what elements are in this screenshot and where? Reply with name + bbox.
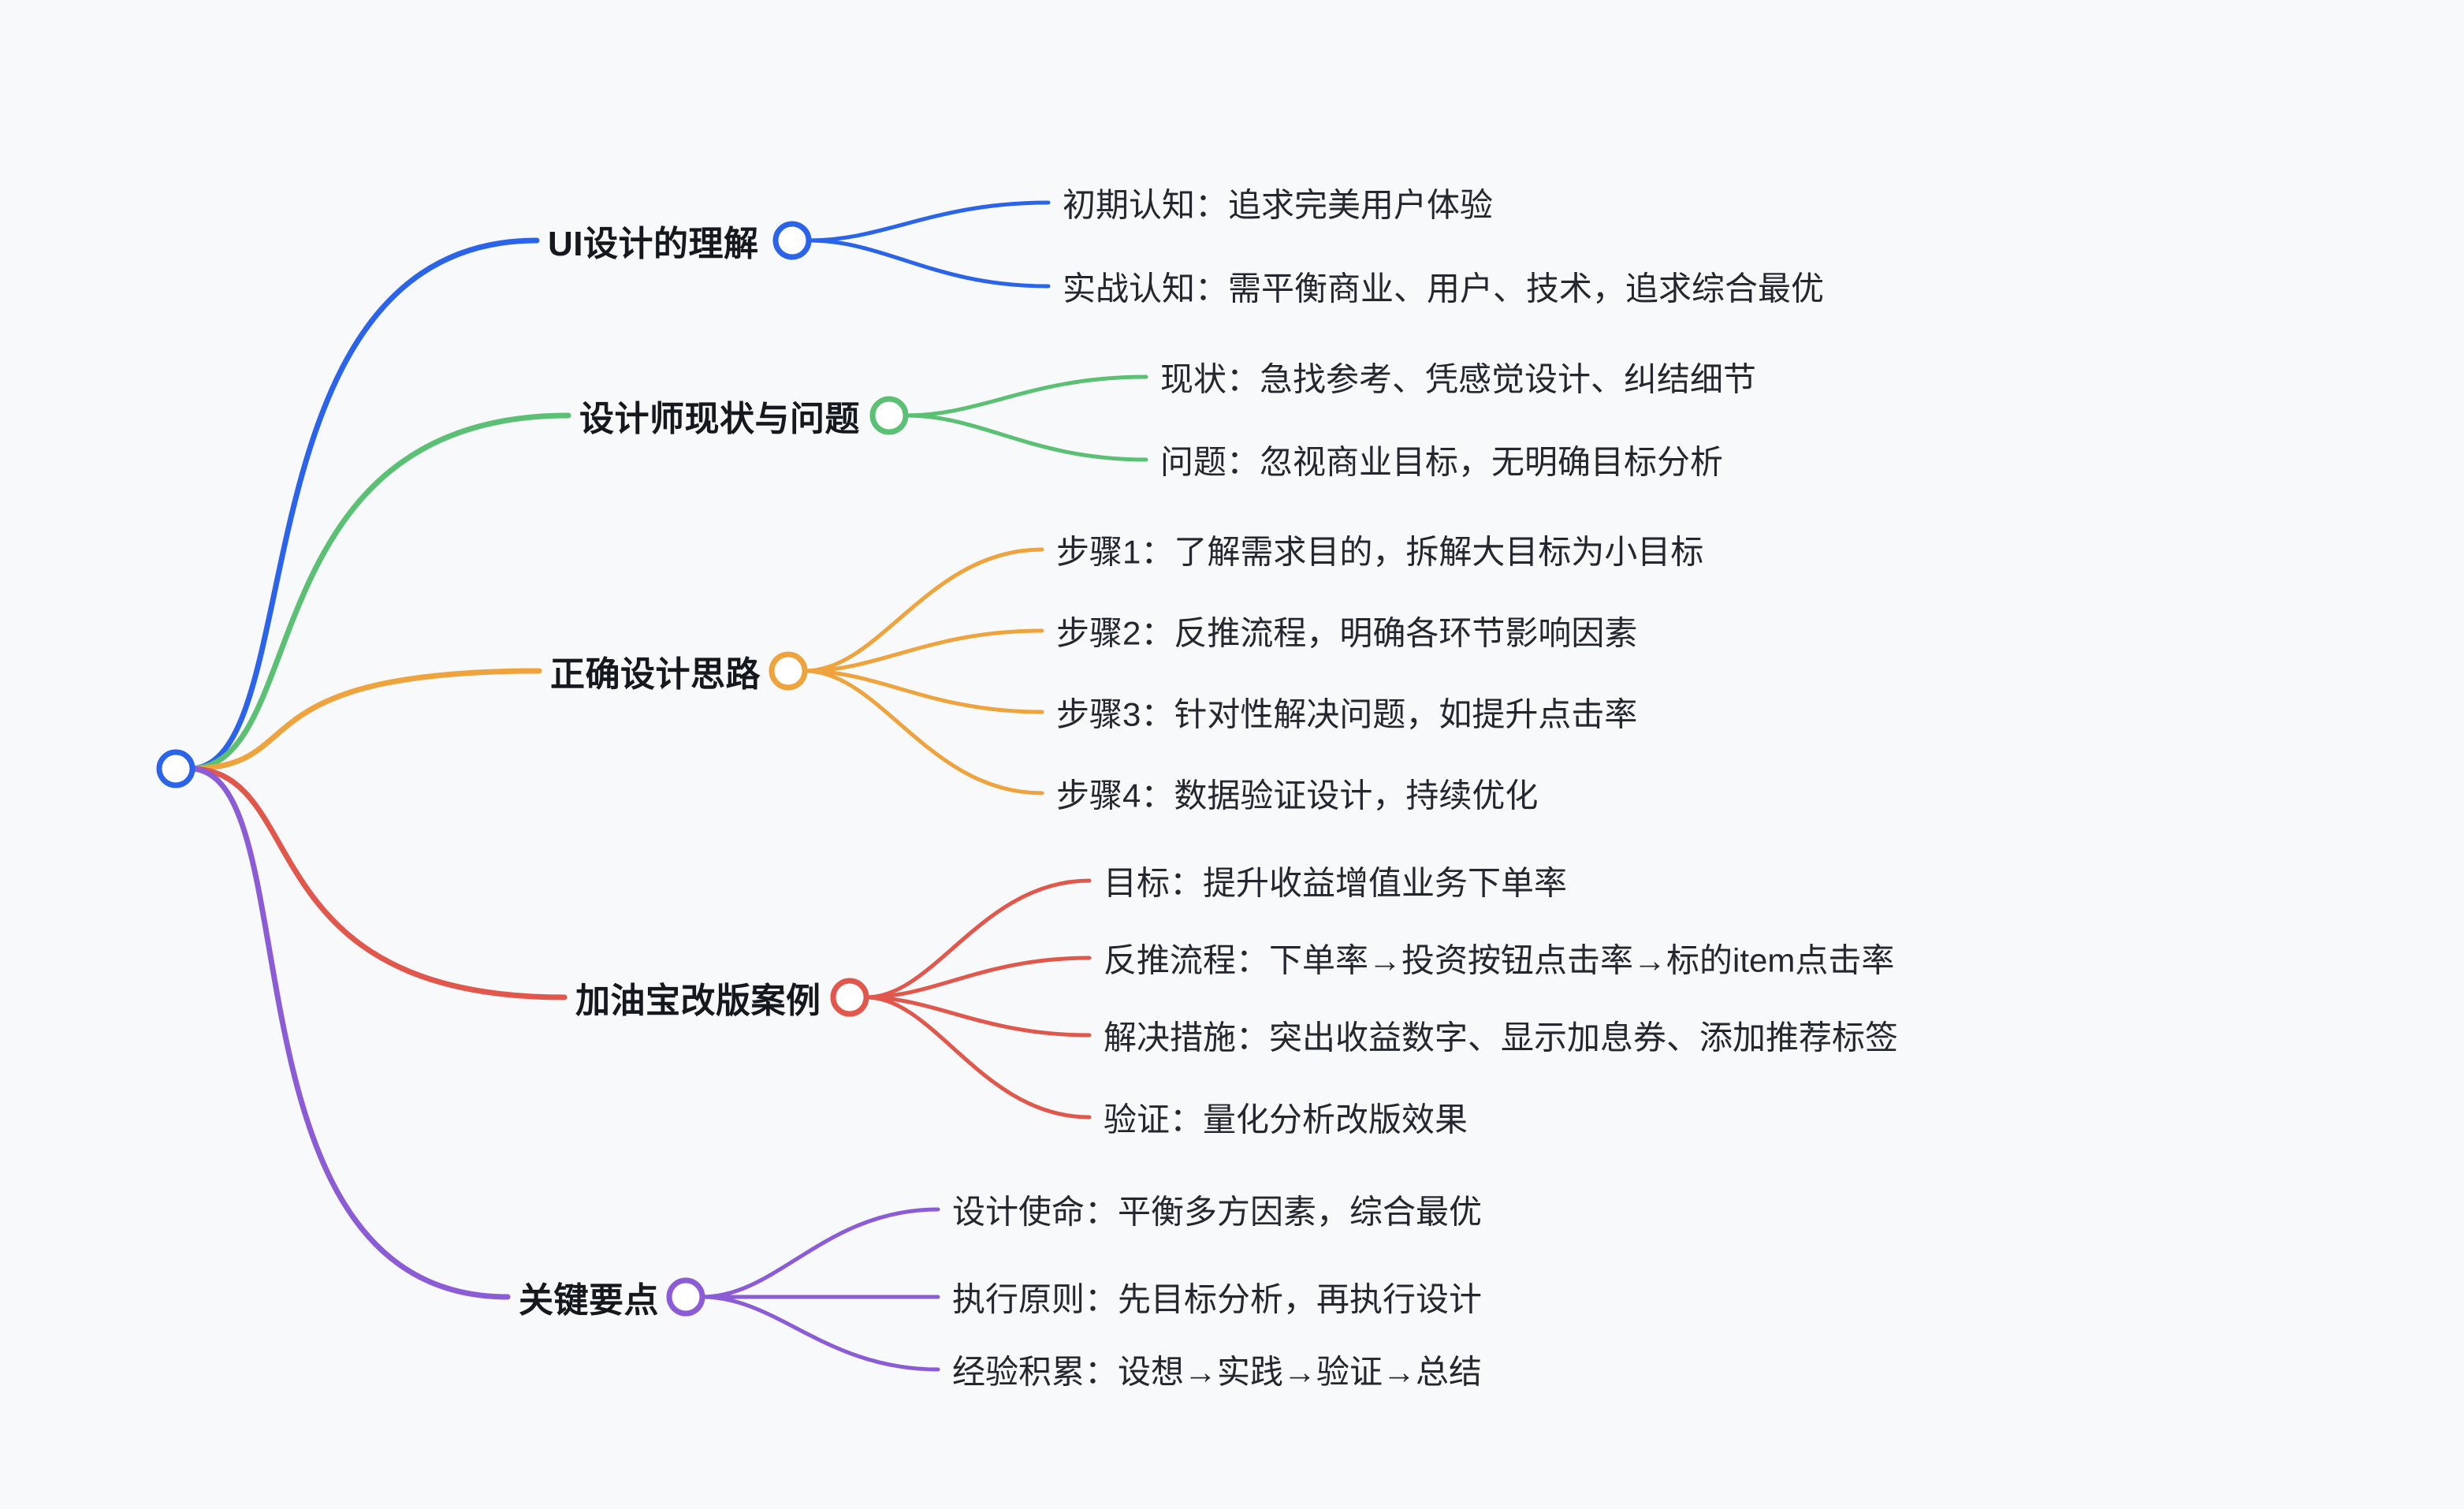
- leaf-label-correct-design-thinking-0[interactable]: 步骤1：了解需求目的，拆解大目标为小目标: [1056, 526, 1703, 574]
- leaf-label-jiayoubao-case-3[interactable]: 验证：量化分析改版效果: [1104, 1094, 1468, 1142]
- child-edge-jiayoubao-case-3: [866, 997, 1089, 1117]
- branch-node-ui-understanding[interactable]: [776, 224, 809, 257]
- branch-node-jiayoubao-case[interactable]: [833, 981, 866, 1014]
- child-edge-correct-design-thinking-1: [805, 631, 1042, 671]
- root-edge-jiayoubao-case: [193, 769, 564, 997]
- root-node[interactable]: [159, 752, 192, 785]
- child-edge-correct-design-thinking-2: [805, 671, 1042, 712]
- branch-label-correct-design-thinking[interactable]: 正确设计思路: [550, 646, 761, 696]
- root-edges-group: [193, 240, 568, 1297]
- leaf-label-designer-status-0[interactable]: 现状：急找参考、凭感觉设计、纠结细节: [1160, 353, 1756, 401]
- child-edge-jiayoubao-case-0: [866, 881, 1089, 997]
- leaf-label-ui-understanding-0[interactable]: 初期认知：追求完美用户体验: [1063, 179, 1493, 227]
- leaf-label-jiayoubao-case-1[interactable]: 反推流程：下单率→投资按钮点击率→标的item点击率: [1104, 934, 1894, 982]
- branch-label-key-points[interactable]: 关键要点: [519, 1272, 659, 1322]
- root-edge-correct-design-thinking: [193, 671, 539, 769]
- branch-label-jiayoubao-case[interactable]: 加油宝改版案例: [575, 972, 821, 1023]
- leaf-label-ui-understanding-1[interactable]: 实战认知：需平衡商业、用户、技术，追求综合最优: [1063, 263, 1824, 311]
- root-edge-designer-status: [193, 415, 568, 769]
- leaf-label-jiayoubao-case-2[interactable]: 解决措施：突出收益数字、显示加息券、添加推荐标签: [1104, 1012, 1898, 1060]
- leaf-label-correct-design-thinking-1[interactable]: 步骤2：反推流程，明确各环节影响因素: [1056, 607, 1637, 655]
- child-edge-jiayoubao-case-1: [866, 958, 1089, 997]
- child-edge-designer-status-1: [906, 415, 1146, 460]
- leaf-label-key-points-1[interactable]: 执行原则：先目标分析，再执行设计: [952, 1273, 1482, 1321]
- child-edge-jiayoubao-case-2: [866, 997, 1089, 1035]
- branch-node-designer-status[interactable]: [873, 399, 906, 432]
- child-edge-correct-design-thinking-0: [805, 550, 1042, 671]
- leaf-label-jiayoubao-case-0[interactable]: 目标：提升收益增值业务下单率: [1104, 857, 1567, 905]
- child-edge-ui-understanding-0: [809, 203, 1048, 240]
- branch-node-correct-design-thinking[interactable]: [772, 654, 805, 687]
- child-edge-key-points-2: [702, 1297, 938, 1369]
- child-edge-designer-status-0: [906, 377, 1146, 415]
- child-edge-ui-understanding-1: [809, 240, 1048, 286]
- child-edge-correct-design-thinking-3: [805, 671, 1042, 793]
- node-circles-group: [159, 224, 906, 1313]
- branch-node-key-points[interactable]: [669, 1280, 702, 1313]
- leaf-label-key-points-0[interactable]: 设计使命：平衡多方因素，综合最优: [952, 1186, 1482, 1234]
- leaf-label-correct-design-thinking-3[interactable]: 步骤4：数据验证设计，持续优化: [1056, 769, 1538, 818]
- root-edge-key-points: [193, 769, 508, 1297]
- branch-label-designer-status[interactable]: 设计师现状与问题: [579, 390, 860, 441]
- branch-label-ui-understanding[interactable]: UI设计的理解: [548, 215, 759, 266]
- leaf-label-designer-status-1[interactable]: 问题：忽视商业目标，无明确目标分析: [1160, 436, 1723, 484]
- child-edge-key-points-0: [702, 1209, 938, 1297]
- leaf-label-key-points-2[interactable]: 经验积累：设想→实践→验证→总结: [952, 1346, 1482, 1394]
- leaf-label-correct-design-thinking-2[interactable]: 步骤3：针对性解决问题，如提升点击率: [1056, 688, 1637, 736]
